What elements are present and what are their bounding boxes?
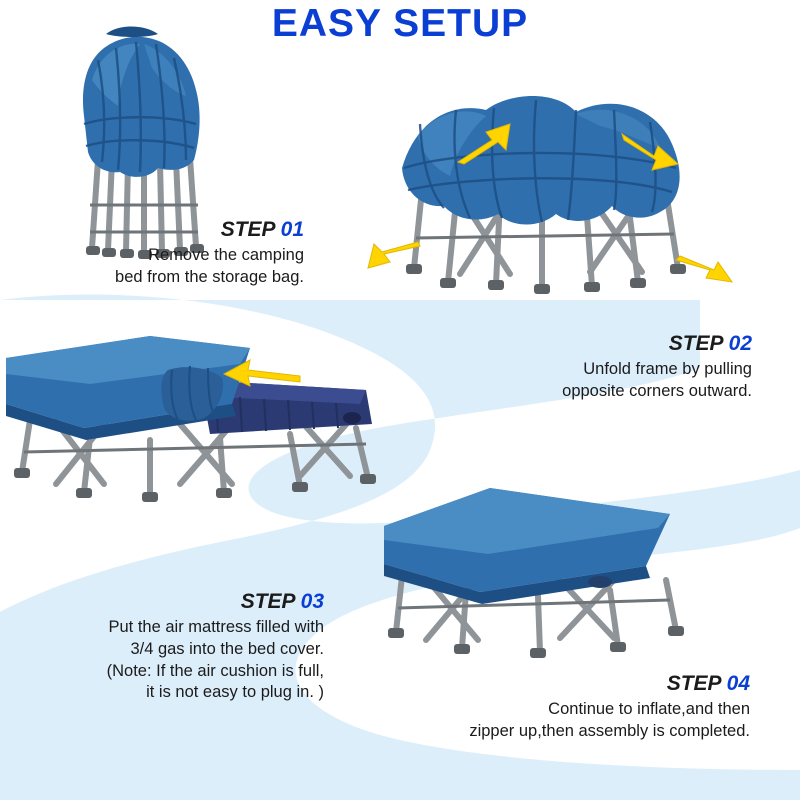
step-number-04: 04 — [727, 672, 750, 695]
illustration-step-03 — [0, 312, 430, 512]
step-label-02: STEP — [669, 332, 723, 355]
step-label-04: STEP — [667, 672, 721, 695]
step-text-02-line-2: opposite corners outward. — [452, 381, 752, 403]
step-text-01-line-2: bed from the storage bag. — [78, 267, 304, 289]
poster-canvas: EASY SETUP — [0, 0, 800, 800]
illustration-step-04 — [370, 470, 700, 660]
step-text-03-line-3: (Note: If the air cushion is full, — [24, 661, 324, 683]
step-text-03: Put the air mattress filled with 3/4 gas… — [24, 617, 324, 704]
step-text-04: Continue to inflate,and then zipper up,t… — [430, 699, 750, 743]
illustration-step-02 — [360, 72, 750, 322]
step-heading-02: STEP 02 — [452, 332, 752, 356]
step-text-04-line-2: zipper up,then assembly is completed. — [430, 721, 750, 743]
step-text-03-line-1: Put the air mattress filled with — [24, 617, 324, 639]
step-block-04: STEP 04 Continue to inflate,and then zip… — [430, 672, 750, 743]
step-text-02: Unfold frame by pulling opposite corners… — [452, 359, 752, 403]
step-text-03-line-4: it is not easy to plug in. ) — [24, 682, 324, 704]
step-text-02-line-1: Unfold frame by pulling — [452, 359, 752, 381]
step-text-04-line-1: Continue to inflate,and then — [430, 699, 750, 721]
step-heading-04: STEP 04 — [430, 672, 750, 696]
step-block-03: STEP 03 Put the air mattress filled with… — [24, 590, 324, 704]
step-text-01: Remove the camping bed from the storage … — [78, 245, 304, 289]
step-block-01: STEP 01 Remove the camping bed from the … — [78, 218, 304, 289]
step-text-03-line-2: 3/4 gas into the bed cover. — [24, 639, 324, 661]
step-number-01: 01 — [281, 218, 304, 241]
step-label-01: STEP — [221, 218, 275, 241]
step-number-02: 02 — [729, 332, 752, 355]
step-number-03: 03 — [301, 590, 324, 613]
step-heading-03: STEP 03 — [24, 590, 324, 614]
step-label-03: STEP — [241, 590, 295, 613]
step-heading-01: STEP 01 — [78, 218, 304, 242]
step-text-01-line-1: Remove the camping — [78, 245, 304, 267]
step-block-02: STEP 02 Unfold frame by pulling opposite… — [452, 332, 752, 403]
